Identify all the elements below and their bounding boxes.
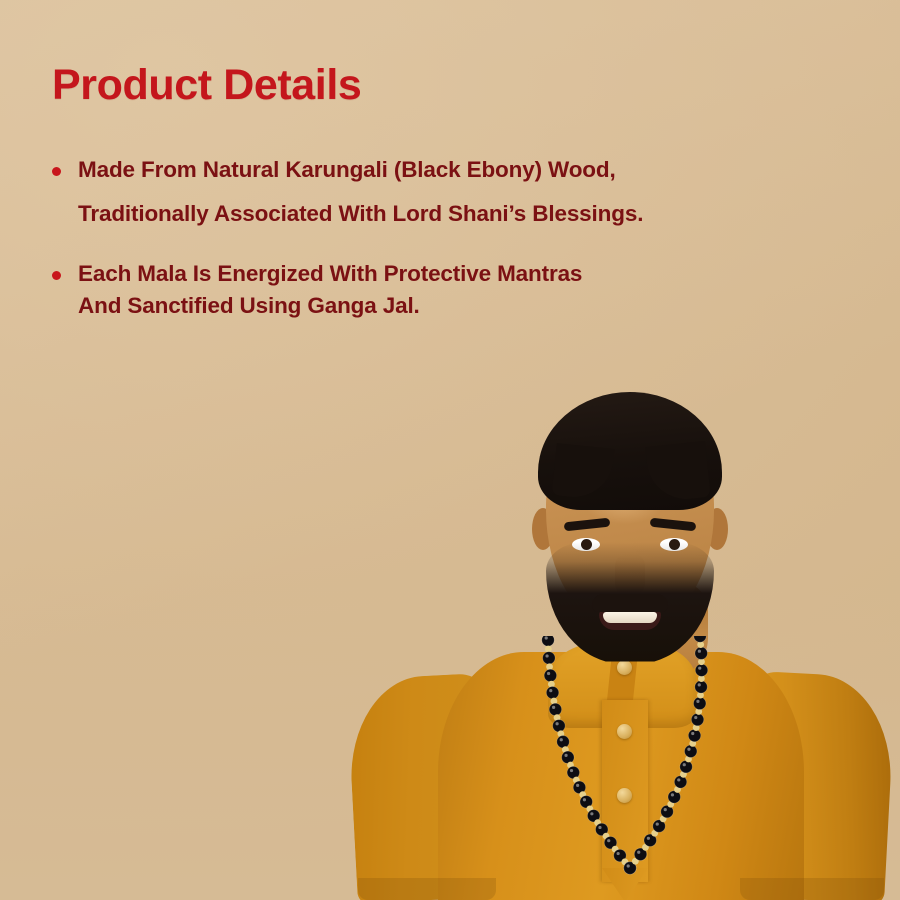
list-item-energized: Each Mala Is Energized With Protective M… <box>52 261 842 319</box>
product-details-list: Made From Natural Karungali (Black Ebony… <box>52 157 842 319</box>
product-details-card: Product Details Made From Natural Karung… <box>0 0 900 900</box>
list-item-material: Made From Natural Karungali (Black Ebony… <box>52 157 842 227</box>
bullet-dot-icon <box>52 271 61 280</box>
bullet-dot-icon <box>52 167 61 176</box>
list-item-line: Traditionally Associated With Lord Shani… <box>78 201 842 227</box>
content-block: Product Details Made From Natural Karung… <box>52 62 842 319</box>
list-item-line: Made From Natural Karungali (Black Ebony… <box>78 157 842 183</box>
list-item-line: Each Mala Is Energized With Protective M… <box>78 261 842 287</box>
page-title: Product Details <box>52 62 842 109</box>
list-item-line: And Sanctified Using Ganga Jal. <box>78 293 842 319</box>
